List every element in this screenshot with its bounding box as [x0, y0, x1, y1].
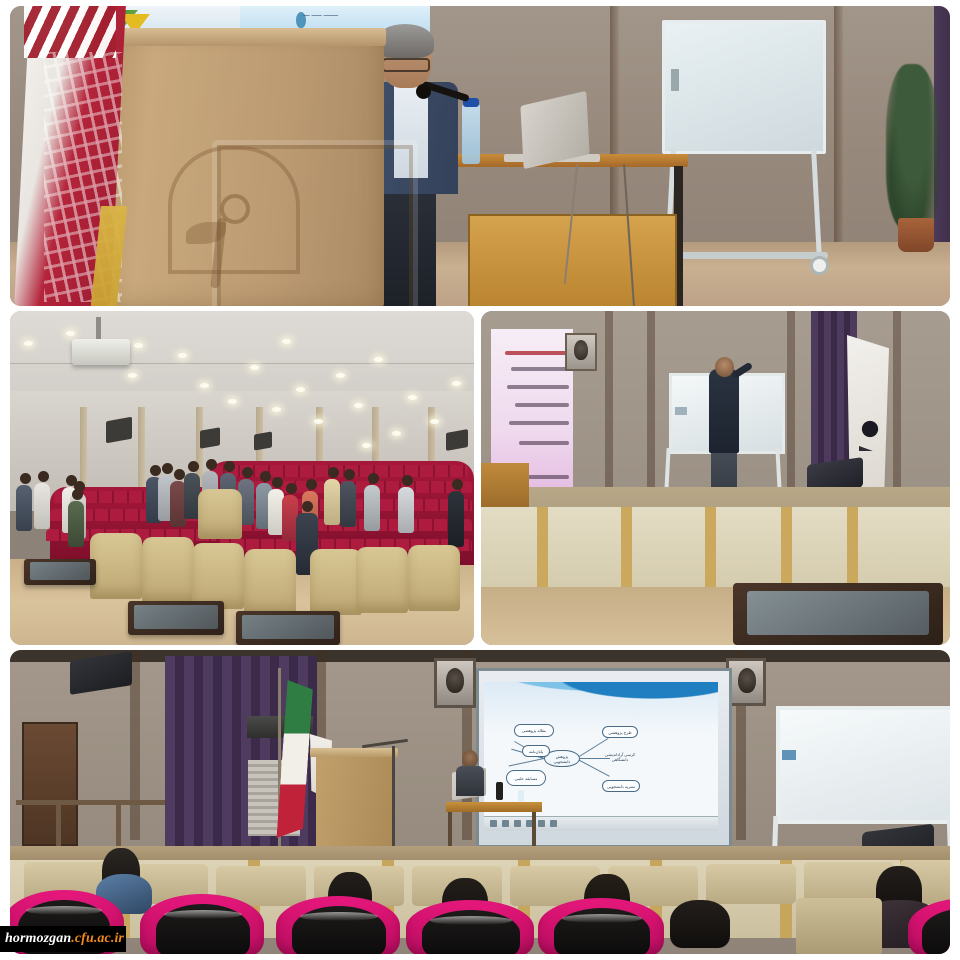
table-front-panel [468, 214, 677, 306]
podium [316, 752, 392, 850]
operator-torso [456, 766, 484, 796]
ceiling-shadow-strip [10, 650, 950, 662]
portrait-face [446, 668, 464, 693]
seat-highlight [26, 906, 102, 915]
flag-emblem-icon [859, 411, 881, 451]
screen-text-line [525, 475, 569, 479]
presenter-torso [709, 369, 739, 453]
attendee [364, 485, 380, 531]
photo-collage: ـــــــ ـــــ ـــ [0, 0, 960, 960]
desk-item [496, 782, 503, 800]
screen-text-line [511, 367, 569, 371]
whiteboard [776, 706, 950, 824]
wall-speaker [106, 417, 132, 444]
portrait-face [738, 668, 756, 693]
side-door [22, 722, 78, 846]
attendee [324, 479, 340, 525]
podium [481, 463, 529, 511]
attendee [448, 491, 464, 547]
seat-highlight [300, 912, 378, 921]
screen-text-line [505, 351, 569, 355]
watermark-domain-primary: hormozgan [5, 931, 71, 946]
panel-top-podium: ـــــــ ـــــ ـــ [10, 6, 950, 306]
presenter-head [715, 357, 734, 377]
seat-highlight [430, 916, 512, 925]
whiteboard-marker-tray [675, 407, 687, 415]
whiteboard-marker-tray [782, 750, 796, 760]
mindmap-node: پایان‌نامه [522, 745, 550, 757]
projector-mount [96, 317, 101, 341]
framed-portrait [726, 658, 766, 706]
panel-mid-right-stage [481, 311, 950, 645]
potted-plant [886, 64, 940, 230]
whiteboard-foot [660, 252, 828, 259]
ceiling-projector [72, 339, 130, 365]
site-watermark: hormozgan.cfu.ac.ir [0, 926, 126, 952]
watermark-domain-suffix: .cfu.ac.ir [71, 931, 124, 946]
glasses-icon [382, 58, 430, 72]
seat-back [706, 864, 796, 904]
portrait-face [574, 340, 588, 360]
microphone-stand [392, 746, 395, 850]
mindmap-node: مقاله پژوهشی [514, 724, 554, 737]
caster-wheel [810, 256, 829, 275]
front-armchair [142, 537, 194, 603]
screen-text-line [515, 403, 569, 407]
water-bottle [462, 102, 480, 164]
attendee [16, 485, 32, 531]
front-armchair [244, 549, 296, 615]
screen-text-line [509, 421, 569, 425]
operator-desk [446, 802, 542, 812]
attendee [68, 501, 84, 547]
front-armchair [408, 545, 460, 611]
seat-back [796, 898, 882, 954]
whiteboard-clip [671, 69, 679, 91]
stage-panel-divider [705, 507, 716, 599]
watermark-text: hormozgan.cfu.ac.ir [0, 931, 124, 947]
wall-speaker [200, 427, 220, 449]
mindmap-node: طرح پژوهشی [602, 726, 638, 738]
rail-post [116, 800, 121, 846]
panel-mid-left-auditorium [10, 311, 474, 645]
mindmap-node: نشریه دانشجویی [602, 780, 640, 792]
framed-portrait [565, 333, 597, 371]
microphone-head [416, 84, 431, 99]
glass-table-top [242, 615, 334, 639]
glass-table-top [30, 562, 90, 580]
plant-pot [898, 218, 934, 252]
wall-speaker [254, 431, 272, 450]
front-armchair [356, 547, 408, 613]
stage-panel-divider [621, 507, 632, 599]
whiteboard-surface [665, 23, 823, 151]
mindmap-node: کرسی آزاداندیشی دانشگاهی [596, 748, 644, 766]
framed-portrait [434, 658, 476, 708]
front-armchair [310, 549, 362, 615]
glass-table-top [134, 605, 218, 629]
front-armchair [192, 543, 244, 609]
screen-text-line [507, 385, 569, 389]
panel-bottom-hall: پژوهش دانشجویی مقاله پژوهشی پایان‌نامه م… [10, 650, 950, 954]
whiteboard [662, 20, 826, 154]
podium-top [310, 748, 398, 757]
rail-post [56, 800, 61, 846]
seat-highlight [164, 910, 242, 919]
seat-highlight [562, 914, 642, 923]
glass-table-top [747, 591, 929, 635]
front-armchair [90, 533, 142, 599]
audience-member [670, 900, 730, 948]
mindmap-node: مسابقه علمی [506, 770, 546, 786]
attendee [398, 487, 414, 533]
podium-top [84, 28, 386, 46]
banner-text: ـــــــ ـــــ ـــ [303, 10, 338, 18]
water-bottle [518, 790, 524, 802]
screen-text-line [519, 441, 569, 445]
attendee [34, 483, 50, 529]
attendee [340, 481, 356, 527]
stage-panel-divider [537, 507, 548, 599]
front-armchair [198, 489, 242, 539]
flag-top-folds [24, 6, 116, 58]
